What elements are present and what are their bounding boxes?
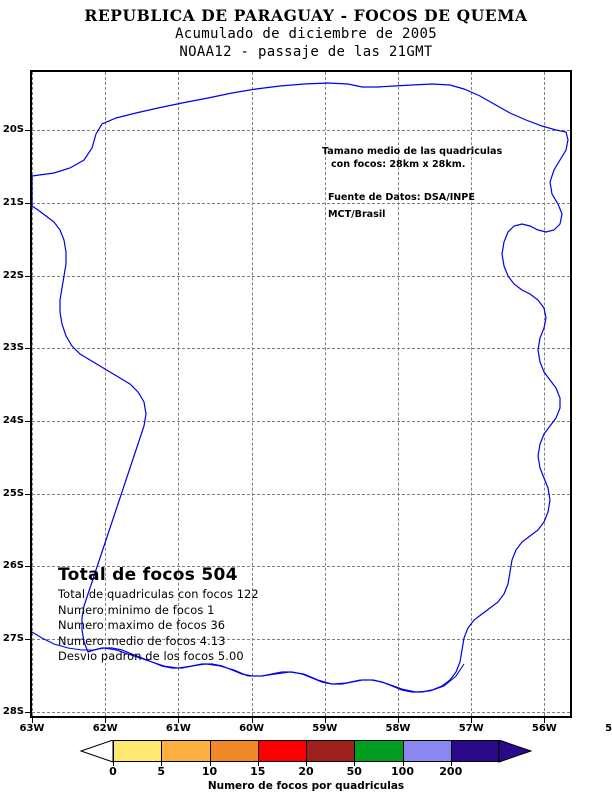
colorbar-tick-label-100: 100 [383,765,423,778]
colorbar-tick-label-50: 50 [334,765,374,778]
y-tick [25,348,30,349]
x-axis-label-58W: 58W [383,723,413,734]
colorbar-tick-label-0: 0 [93,765,133,778]
colorbar-bands [113,740,499,762]
x-axis-label-63W: 63W [17,723,47,734]
title-subtitle-period: Acumulado de diciembre de 2005 [0,25,612,43]
y-axis-label-20S: 20S [0,124,24,135]
y-tick [25,130,30,131]
data-source-line2: MCT/Brasil [328,206,537,223]
statistics-row: Numero medio de focos 4.13 [58,634,318,650]
x-axis-label-57W: 57W [456,723,486,734]
y-tick [25,276,30,277]
colorbar-band-7 [451,740,499,762]
colorbar-tick-label-10: 10 [190,765,230,778]
x-axis-label-61W: 61W [163,723,193,734]
y-tick [25,639,30,640]
x-axis-label-55W: 55W [603,723,612,734]
colorbar-band-3 [258,740,306,762]
y-axis-label-27S: 27S [0,633,24,644]
y-axis-label-23S: 23S [0,342,24,353]
colorbar-band-1 [161,740,209,762]
statistics-row: Numero minimo de focos 1 [58,603,318,619]
y-axis-label-22S: 22S [0,270,24,281]
grid-size-note-line1: Tamano medio de las quadriculas [322,145,537,158]
y-tick [25,712,30,713]
colorbar-tick-label-5: 5 [141,765,181,778]
y-axis-label-24S: 24S [0,415,24,426]
colorbar-tick-label-20: 20 [286,765,326,778]
y-axis-label-26S: 26S [0,560,24,571]
colorbar-band-6 [403,740,451,762]
colorbar-band-0 [113,740,161,762]
y-tick [25,566,30,567]
colorbar-band-4 [306,740,354,762]
colorbar-tick-label-15: 15 [238,765,278,778]
y-tick [25,203,30,204]
title-block: REPUBLICA DE PARAGUAY - FOCOS DE QUEMA A… [0,6,612,61]
y-axis-label-28S: 28S [0,706,24,717]
statistics-rows: Total de quadriculas con focos 122Numero… [58,587,318,665]
colorbar-caption: Numero de focos por quadriculas [0,780,612,792]
data-source-note: Fuente de Datos: DSA/INPE MCT/Brasil [328,189,537,223]
statistics-row: Total de quadriculas con focos 122 [58,587,318,603]
total-focos-label: Total de focos 504 [58,565,318,585]
colorbar-band-5 [354,740,402,762]
page-title: REPUBLICA DE PARAGUAY - FOCOS DE QUEMA [0,6,612,25]
y-tick [25,494,30,495]
colorbar-band-2 [210,740,258,762]
statistics-row: Numero maximo de focos 36 [58,618,318,634]
x-axis-label-60W: 60W [237,723,267,734]
grid-size-note-line2: con focos: 28km x 28km. [331,158,537,171]
title-subtitle-satellite: NOAA12 - passaje de las 21GMT [0,43,612,61]
data-source-line1: Fuente de Datos: DSA/INPE [328,189,537,206]
x-axis-label-62W: 62W [90,723,120,734]
grid-size-note: Tamano medio de las quadriculas con foco… [322,145,537,223]
y-tick [25,421,30,422]
x-axis-label-56W: 56W [529,723,559,734]
x-axis-label-59W: 59W [310,723,340,734]
colorbar-tick-label-200: 200 [431,765,471,778]
y-axis-label-25S: 25S [0,488,24,499]
statistics-block: Total de focos 504 Total de quadriculas … [58,565,318,665]
statistics-row: Desvio padron de los focos 5.00 [58,649,318,665]
colorbar: 0510152050100200 Numero de focos por qua… [0,736,612,792]
y-axis-label-21S: 21S [0,197,24,208]
